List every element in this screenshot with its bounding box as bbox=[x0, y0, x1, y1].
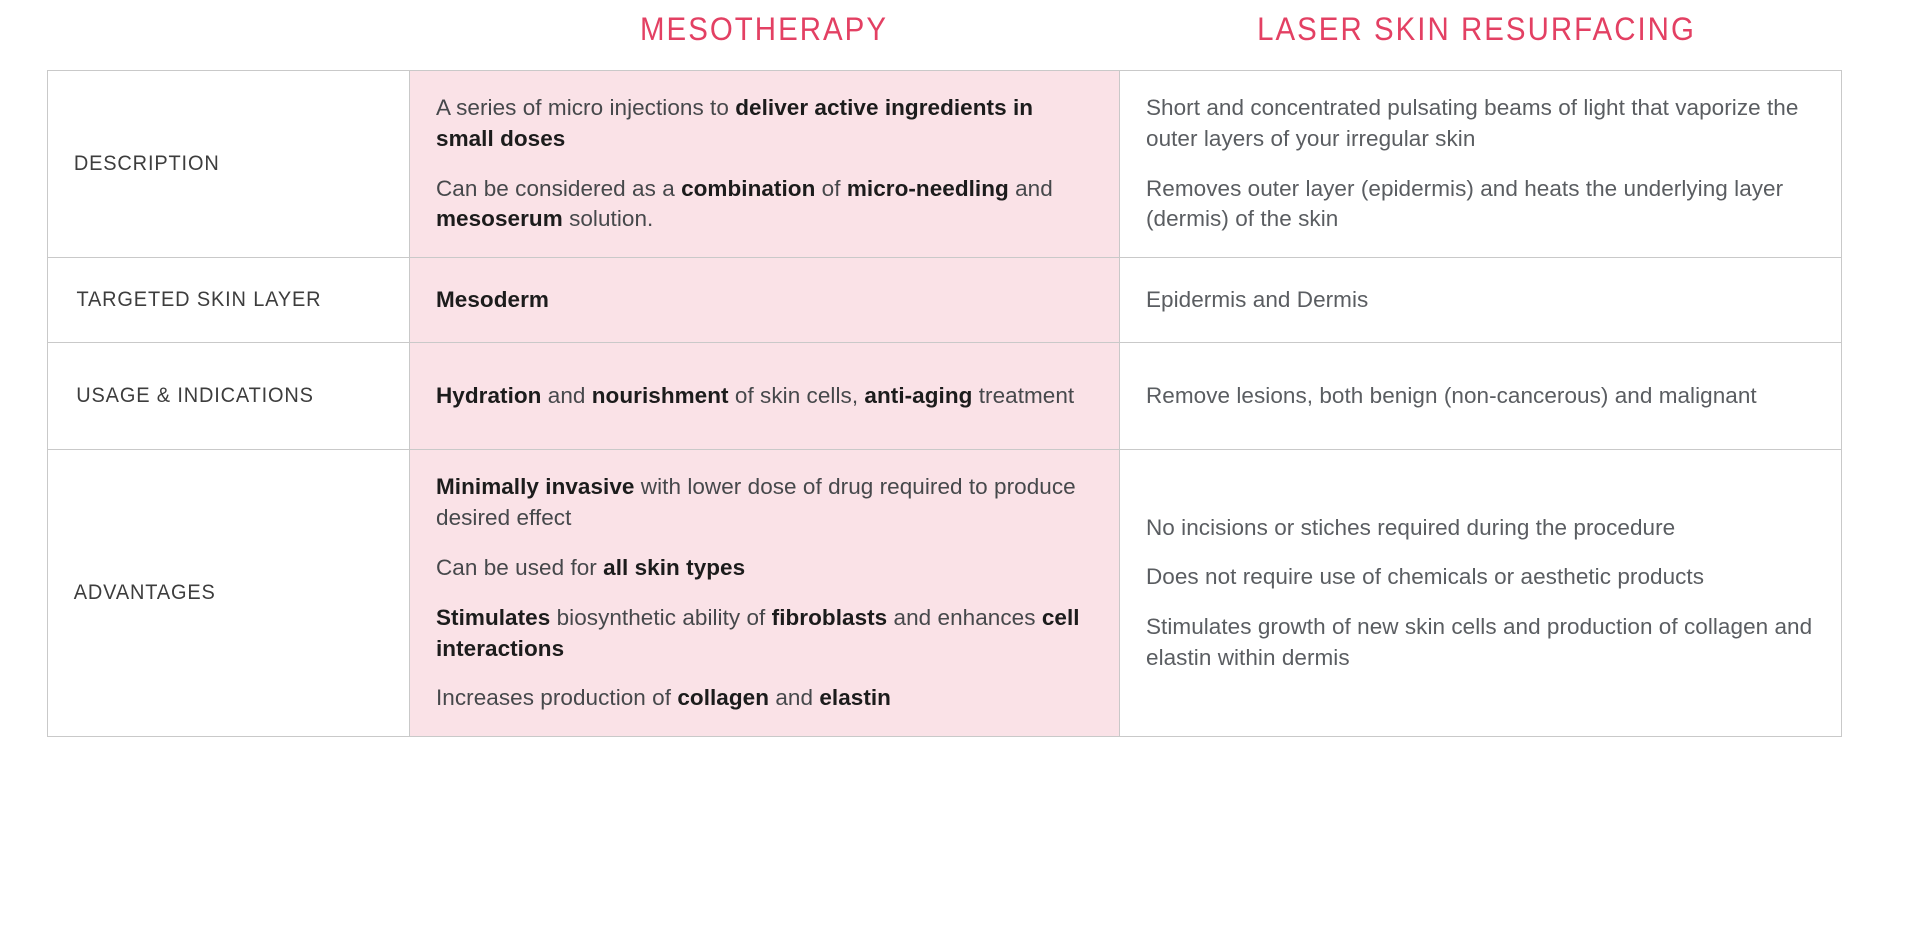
table-row: USAGE & INDICATIONSHydration and nourish… bbox=[48, 343, 1841, 450]
row-label-text: DESCRIPTION bbox=[74, 152, 220, 176]
emphasis-text: fibroblasts bbox=[772, 605, 888, 630]
emphasis-text: nourishment bbox=[592, 383, 729, 408]
cell-paragraph: Hydration and nourishment of skin cells,… bbox=[436, 381, 1093, 412]
body-text: Short and concentrated pulsating beams o… bbox=[1146, 95, 1798, 151]
cell-paragraph: Stimulates growth of new skin cells and … bbox=[1146, 612, 1815, 674]
emphasis-text: Stimulates bbox=[436, 605, 550, 630]
row-label-description: DESCRIPTION bbox=[48, 71, 410, 257]
cell-laser-targeted-skin-layer: Epidermis and Dermis bbox=[1120, 258, 1841, 342]
cell-laser-description: Short and concentrated pulsating beams o… bbox=[1120, 71, 1841, 257]
row-label-advantages: ADVANTAGES bbox=[48, 450, 410, 736]
body-text: No incisions or stiches required during … bbox=[1146, 515, 1675, 540]
body-text: and bbox=[769, 685, 819, 710]
emphasis-text: mesoserum bbox=[436, 206, 563, 231]
comparison-table-page: MESOTHERAPY LASER SKIN RESURFACING DESCR… bbox=[0, 0, 1920, 951]
cell-laser-advantages: No incisions or stiches required during … bbox=[1120, 450, 1841, 736]
column-header-mesotherapy: MESOTHERAPY bbox=[437, 13, 1090, 45]
cell-paragraph: Epidermis and Dermis bbox=[1146, 285, 1815, 316]
body-text: A series of micro injections to bbox=[436, 95, 735, 120]
emphasis-text: Hydration bbox=[436, 383, 541, 408]
table-row: DESCRIPTIONA series of micro injections … bbox=[48, 71, 1841, 258]
cell-mesotherapy-advantages: Minimally invasive with lower dose of dr… bbox=[410, 450, 1120, 736]
body-text: solution. bbox=[563, 206, 654, 231]
body-text: of bbox=[815, 176, 846, 201]
cell-paragraph: Increases production of collagen and ela… bbox=[436, 683, 1093, 714]
cell-paragraph: Remove lesions, both benign (non-cancero… bbox=[1146, 381, 1815, 412]
table-row: ADVANTAGESMinimally invasive with lower … bbox=[48, 450, 1841, 736]
cell-laser-usage-indications: Remove lesions, both benign (non-cancero… bbox=[1120, 343, 1841, 449]
body-text: Remove lesions, both benign (non-cancero… bbox=[1146, 383, 1757, 408]
comparison-table: DESCRIPTIONA series of micro injections … bbox=[47, 70, 1842, 737]
body-text: of skin cells, bbox=[729, 383, 865, 408]
body-text: and bbox=[541, 383, 591, 408]
body-text: Removes outer layer (epidermis) and heat… bbox=[1146, 176, 1783, 232]
cell-paragraph: Mesoderm bbox=[436, 285, 1093, 316]
body-text: Increases production of bbox=[436, 685, 677, 710]
cell-mesotherapy-description: A series of micro injections to deliver … bbox=[410, 71, 1120, 257]
cell-mesotherapy-targeted-skin-layer: Mesoderm bbox=[410, 258, 1120, 342]
row-label-text: ADVANTAGES bbox=[74, 581, 216, 605]
row-label-targeted-skin-layer: TARGETED SKIN LAYER bbox=[48, 258, 410, 342]
emphasis-text: micro-needling bbox=[847, 176, 1009, 201]
cell-paragraph: A series of micro injections to deliver … bbox=[436, 93, 1093, 155]
emphasis-text: Mesoderm bbox=[436, 287, 549, 312]
cell-paragraph: Removes outer layer (epidermis) and heat… bbox=[1146, 174, 1815, 236]
emphasis-text: collagen bbox=[677, 685, 769, 710]
column-header-laser-skin-resurfacing: LASER SKIN RESURFACING bbox=[1148, 13, 1806, 45]
emphasis-text: anti-aging bbox=[864, 383, 972, 408]
cell-mesotherapy-usage-indications: Hydration and nourishment of skin cells,… bbox=[410, 343, 1120, 449]
emphasis-text: combination bbox=[681, 176, 815, 201]
body-text: Epidermis and Dermis bbox=[1146, 287, 1368, 312]
body-text: biosynthetic ability of bbox=[550, 605, 771, 630]
emphasis-text: Minimally invasive bbox=[436, 474, 635, 499]
body-text: Can be used for bbox=[436, 555, 603, 580]
emphasis-text: elastin bbox=[819, 685, 891, 710]
body-text: and enhances bbox=[887, 605, 1042, 630]
body-text: Does not require use of chemicals or aes… bbox=[1146, 564, 1704, 589]
body-text: and bbox=[1009, 176, 1053, 201]
row-label-text: USAGE & INDICATIONS bbox=[76, 384, 314, 408]
cell-paragraph: Does not require use of chemicals or aes… bbox=[1146, 562, 1815, 593]
cell-paragraph: Minimally invasive with lower dose of dr… bbox=[436, 472, 1093, 534]
body-text: Stimulates growth of new skin cells and … bbox=[1146, 614, 1812, 670]
row-label-text: TARGETED SKIN LAYER bbox=[76, 288, 321, 312]
table-row: TARGETED SKIN LAYERMesodermEpidermis and… bbox=[48, 258, 1841, 343]
table-column-headers: MESOTHERAPY LASER SKIN RESURFACING bbox=[47, 0, 1842, 58]
cell-paragraph: No incisions or stiches required during … bbox=[1146, 513, 1815, 544]
row-label-usage-indications: USAGE & INDICATIONS bbox=[48, 343, 410, 449]
emphasis-text: all skin types bbox=[603, 555, 745, 580]
cell-paragraph: Can be used for all skin types bbox=[436, 553, 1093, 584]
body-text: treatment bbox=[972, 383, 1074, 408]
cell-paragraph: Short and concentrated pulsating beams o… bbox=[1146, 93, 1815, 155]
cell-paragraph: Stimulates biosynthetic ability of fibro… bbox=[436, 603, 1093, 665]
body-text: Can be considered as a bbox=[436, 176, 681, 201]
cell-paragraph: Can be considered as a combination of mi… bbox=[436, 174, 1093, 236]
